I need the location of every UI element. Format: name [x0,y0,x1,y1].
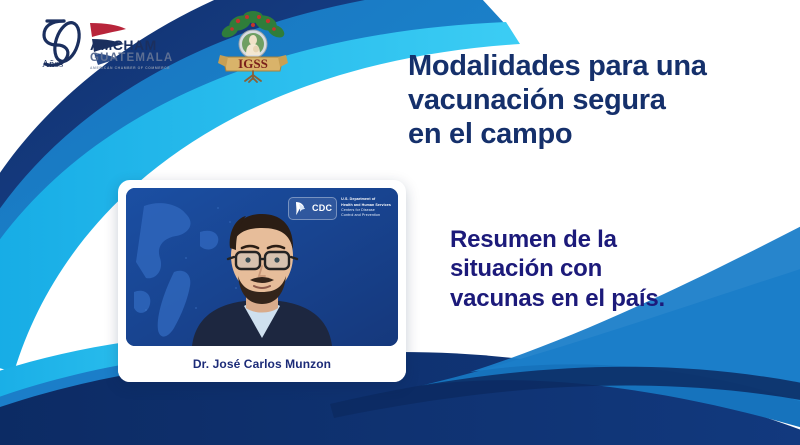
slide-title: Modalidades para una vacunación segura e… [408,50,778,152]
speaker-name: Dr. José Carlos Munzon [193,357,331,371]
slide-subtitle-line-1: Resumen de la [450,225,780,254]
cdc-logo-mark: CDC [288,197,337,220]
slide-subtitle-line-3: vacunas en el país. [450,284,780,313]
amcham-tagline: AMERICAN CHAMBER OF COMMERCE [90,67,173,70]
logo-strip: Años AMCHAM GUATEMALA AMERICAN CHAMBER O… [34,8,288,84]
amcham-wordmark: AMCHAM GUATEMALA AMERICAN CHAMBER OF COM… [90,38,173,70]
video-feed[interactable]: CDC U.S. Department of Health and Human … [126,188,398,346]
igss-acronym: IGSS [238,56,268,71]
cdc-acronym: CDC [312,203,332,213]
speaker-video-card[interactable]: CDC U.S. Department of Health and Human … [118,180,406,382]
igss-logo-icon: IGSS [218,9,288,83]
cdc-logo: CDC U.S. Department of Health and Human … [288,194,391,222]
amcham-country: GUATEMALA [90,53,173,65]
slide-subtitle: Resumen de la situación con vacunas en e… [450,225,780,313]
speaker-name-bar: Dr. José Carlos Munzon [118,346,406,382]
slide-title-line-3: en el campo [408,118,778,152]
amcham-name: AMCHAM [90,38,173,52]
slide-canvas: Años AMCHAM GUATEMALA AMERICAN CHAMBER O… [0,0,800,445]
svg-text:Años: Años [42,59,63,70]
slide-title-line-2: vacunación segura [408,84,778,118]
slide-title-line-1: Modalidades para una [408,50,778,84]
cdc-line-4: Control and Prevention [341,213,391,218]
slide-subtitle-line-2: situación con [450,254,780,283]
hhs-eagle-icon [293,200,309,217]
cdc-agency-lines: U.S. Department of Health and Human Serv… [341,197,391,219]
